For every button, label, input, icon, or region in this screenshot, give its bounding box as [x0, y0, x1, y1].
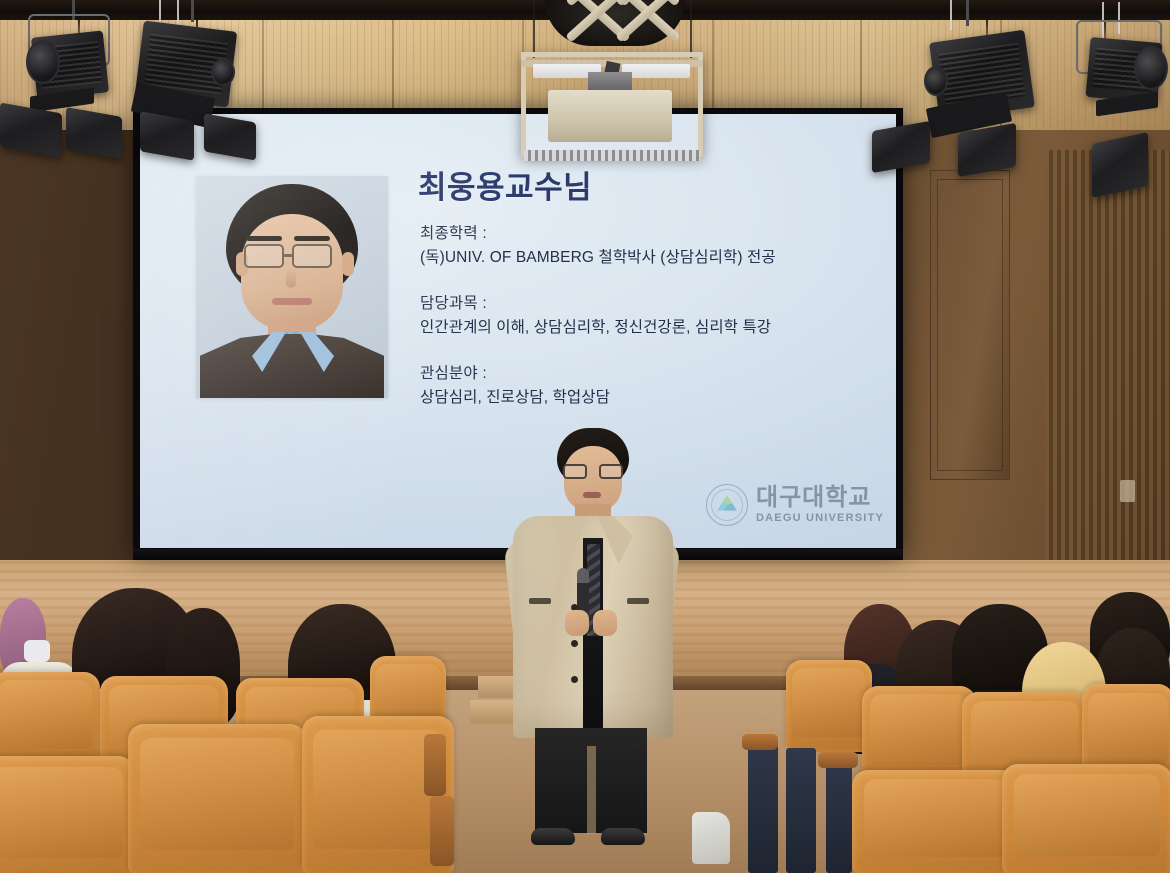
ceiling-projector: [548, 90, 672, 142]
auditorium-seat: [0, 672, 100, 764]
stage-light-extra-left-3: [140, 116, 198, 160]
stage-light-extra-left: [0, 108, 66, 156]
seat-side-panel: [826, 758, 852, 873]
university-name-korean: 대구대학교: [756, 486, 884, 510]
auditorium-seat: [1002, 764, 1170, 873]
plastic-bag: [692, 812, 730, 864]
slide-title: 최웅용교수님: [418, 162, 592, 207]
stage-light-fresnel-left: [20, 8, 120, 118]
stage-light-extra-right-3: [1092, 138, 1152, 196]
slide-section-label: 관심분야 :: [420, 362, 890, 386]
slide-section-label: 최종학력 :: [420, 222, 890, 246]
stage-light-extra-left-4: [204, 118, 260, 160]
auditorium-scene: 최웅용교수님 최종학력 : (독)UNIV. OF BAMBERG 철학박사 (…: [0, 0, 1170, 873]
slide-section-education: 최종학력 : (독)UNIV. OF BAMBERG 철학박사 (상담심리학) …: [420, 222, 890, 270]
seat-side-panel: [748, 740, 778, 873]
stage-door: [930, 170, 1010, 480]
slide-section-text: 인간관계의 이해, 상담심리학, 정신건강론, 심리학 특강: [420, 316, 890, 340]
presenter-shoe: [531, 828, 575, 845]
presenter-shoe: [601, 828, 645, 845]
seat-armrest: [424, 734, 446, 796]
slide-body: 최종학력 : (독)UNIV. OF BAMBERG 철학박사 (상담심리학) …: [420, 222, 890, 432]
stage-light-extra-left-2: [66, 112, 126, 158]
auditorium-seat: [862, 686, 976, 780]
seat-armrest: [430, 796, 454, 866]
slide-section-courses: 담당과목 : 인간관계의 이해, 상담심리학, 정신건강론, 심리학 특강: [420, 292, 890, 340]
auditorium-seat: [128, 724, 306, 873]
stage-light-extra-right: [872, 126, 934, 172]
auditorium-seat: [0, 756, 134, 873]
seat-armrest: [818, 752, 858, 768]
acoustic-slat-panel: [1045, 150, 1170, 580]
slide-section-label: 담당과목 :: [420, 292, 890, 316]
seat-armrest: [742, 734, 778, 750]
slide-section-interests: 관심분야 : 상담심리, 진로상담, 학업상담: [420, 362, 890, 410]
stage-light-extra-right-2: [958, 128, 1020, 176]
stage-light-par-right: [926, 8, 1046, 138]
auditorium-seat: [852, 770, 1018, 873]
projector-cage-bottom-grill: [524, 150, 700, 161]
university-name-english: DAEGU UNIVERSITY: [756, 513, 884, 524]
wall-outlet: [1120, 480, 1135, 502]
seat-side-panel: [786, 748, 816, 873]
projector-label-strip-right: [622, 64, 690, 78]
presenter-glasses: [563, 464, 623, 479]
university-logo: 대구대학교 DAEGU UNIVERSITY: [706, 484, 884, 526]
stage-light-fresnel-right: [1072, 10, 1170, 128]
auditorium-seat: [786, 660, 872, 752]
slide-section-text: 상담심리, 진로상담, 학업상담: [420, 386, 890, 410]
audience-face-mask: [24, 640, 50, 662]
professor-portrait-photo: [196, 176, 388, 398]
slide-section-text: (독)UNIV. OF BAMBERG 철학박사 (상담심리학) 전공: [420, 246, 890, 270]
university-seal-icon: [706, 484, 748, 526]
presenter: [505, 428, 680, 848]
